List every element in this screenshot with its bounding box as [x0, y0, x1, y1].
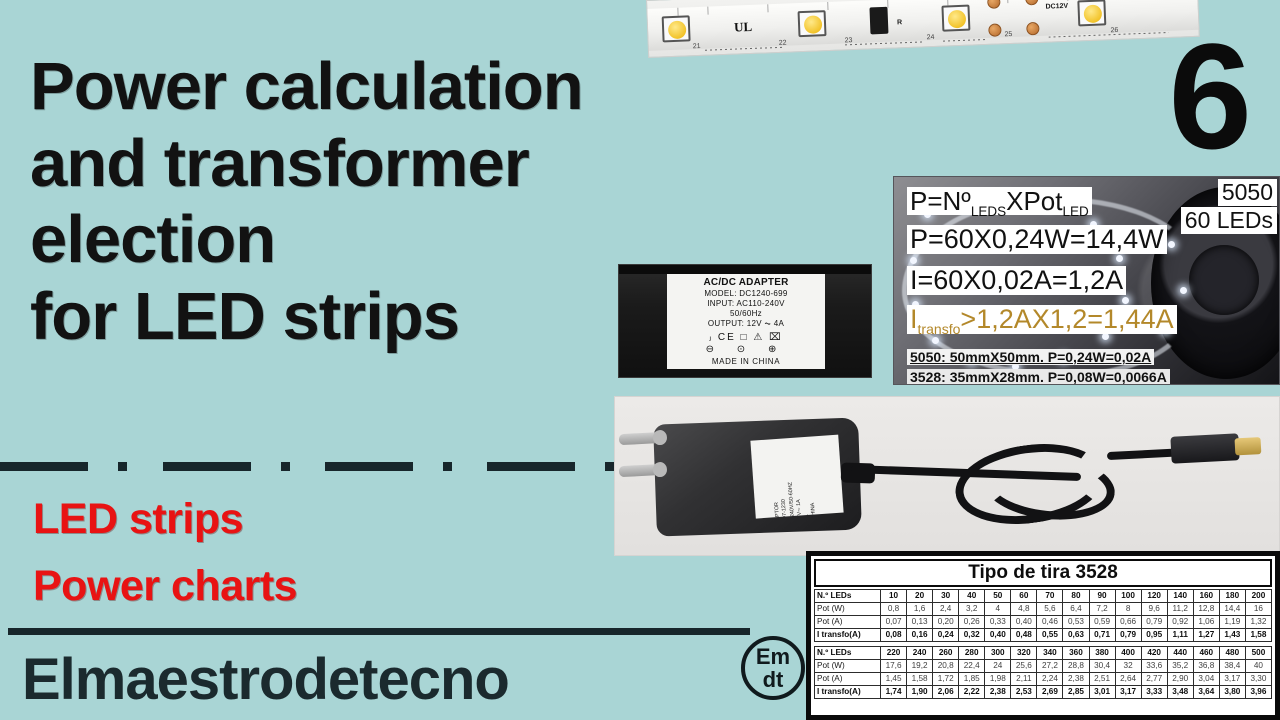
strip-index: 24	[927, 34, 935, 41]
ul-cert-icon: UL	[734, 19, 753, 36]
led-chip	[941, 5, 970, 32]
table-cell: 360	[1063, 646, 1089, 659]
table-cell: 3,64	[1193, 685, 1219, 698]
dc-barrel-jack	[1170, 433, 1239, 464]
table-cell: 440	[1167, 646, 1193, 659]
table-cell: 0,79	[1115, 628, 1141, 641]
table-cell: 1,43	[1219, 628, 1245, 641]
table-cell: 7,2	[1089, 602, 1115, 615]
table-cell: 100	[1115, 589, 1141, 602]
table-cell: 2,53	[1011, 685, 1037, 698]
table-cell: 19,2	[907, 659, 933, 672]
table-cell: 1,58	[907, 672, 933, 685]
table-cell: 480	[1219, 646, 1245, 659]
adapter-made-in: MADE IN CHINA	[669, 357, 823, 366]
table-cell: 280	[959, 646, 985, 659]
table-cell: 120	[1141, 589, 1167, 602]
adapter-brick-photo: AC/DC ADAPTER MODEL: DC1240-699 INPUT: A…	[618, 264, 872, 378]
led-chip	[662, 15, 691, 42]
psu-sticker: AC/DC ADAPTOR MODEL: KD7-1230 INPUT:100-…	[750, 435, 843, 519]
table-cell: 0,33	[985, 615, 1011, 628]
table-cell: 70	[1037, 589, 1063, 602]
table-cell: 0,46	[1037, 615, 1063, 628]
row-label: Pot (A)	[815, 672, 881, 685]
table-cell: 25,6	[1011, 659, 1037, 672]
table-cell: 0,66	[1115, 615, 1141, 628]
table-cell: 1,74	[881, 685, 907, 698]
table-cell: 2,69	[1037, 685, 1063, 698]
table-cell: 0,13	[907, 615, 933, 628]
table-cell: 0,55	[1037, 628, 1063, 641]
table-cell: 3,80	[1219, 685, 1245, 698]
chart-title: Tipo de tira 3528	[814, 559, 1272, 587]
strip-substrate	[647, 0, 1198, 51]
table-cell: 0,63	[1063, 628, 1089, 641]
subtitle-power-charts: Power charts	[33, 562, 297, 611]
table-cell: 140	[1167, 589, 1193, 602]
formula-line-4: Itransfo>1,2AX1,2=1,44A	[907, 305, 1177, 334]
table-cell: 0,20	[933, 615, 959, 628]
strip-index: 25	[1004, 31, 1012, 38]
table-cell: 35,2	[1167, 659, 1193, 672]
table-cell: 2,06	[933, 685, 959, 698]
table-cell: 2,24	[1037, 672, 1063, 685]
formula-panel: 5050 60 LEDs P=NºLEDSXPotLED P=60X0,24W=…	[893, 176, 1280, 385]
table-cell: 400	[1115, 646, 1141, 659]
table-cell: 60	[1011, 589, 1037, 602]
adapter-spec-label: AC/DC ADAPTER MODEL: DC1240-699 INPUT: A…	[667, 274, 825, 369]
note-5050: 5050: 50mmX50mm. P=0,24W=0,02A	[907, 349, 1154, 365]
led-chip	[1077, 0, 1106, 26]
table-cell: 17,6	[881, 659, 907, 672]
table-cell: 200	[1245, 589, 1271, 602]
table-cell: 12,8	[1193, 602, 1219, 615]
table-cell: 14,4	[1219, 602, 1245, 615]
table-cell: 380	[1089, 646, 1115, 659]
table-cell: 20,8	[933, 659, 959, 672]
table-cell: 0,40	[985, 628, 1011, 641]
table-cell: 240	[907, 646, 933, 659]
psu-sticker-text: AC/DC ADAPTOR MODEL: KD7-1230 INPUT:100-…	[769, 435, 820, 519]
table-cell: 2,85	[1063, 685, 1089, 698]
table-cell: 2,90	[1167, 672, 1193, 685]
table-cell: 90	[1089, 589, 1115, 602]
table-cell: 8	[1115, 602, 1141, 615]
formula-line-2: P=60X0,24W=14,4W	[907, 225, 1167, 254]
table-cell: 4,8	[1011, 602, 1037, 615]
table-cell: 40	[959, 589, 985, 602]
table-cell: 460	[1193, 646, 1219, 659]
adapter-frequency: 50/60Hz	[669, 309, 823, 318]
table-cell: 1,72	[933, 672, 959, 685]
table-row: I transfo(A)1,741,902,062,222,382,532,69…	[815, 685, 1272, 698]
row-label: I transfo(A)	[815, 628, 881, 641]
emdt-logo: Em dt	[741, 636, 805, 700]
strip-index: 21	[693, 43, 701, 50]
table-cell: 2,64	[1115, 672, 1141, 685]
table-cell: 9,6	[1141, 602, 1167, 615]
table-cell: 1,90	[907, 685, 933, 698]
table-cell: 3,33	[1141, 685, 1167, 698]
table-cell: 2,51	[1089, 672, 1115, 685]
table-cell: 2,4	[933, 602, 959, 615]
table-cell: 30	[933, 589, 959, 602]
channel-name: Elmaestrodetecno	[22, 646, 509, 713]
table-cell: 33,6	[1141, 659, 1167, 672]
table-cell: 2,11	[1011, 672, 1037, 685]
table-cell: 340	[1037, 646, 1063, 659]
table-cell: 20	[907, 589, 933, 602]
table-cell: 220	[881, 646, 907, 659]
power-chart-card: Tipo de tira 3528 N.º LEDs10203040506070…	[806, 551, 1280, 720]
power-supply-photo: AC/DC ADAPTOR MODEL: KD7-1230 INPUT:100-…	[614, 396, 1280, 556]
horizontal-rule	[8, 628, 750, 635]
table-cell: 0,32	[959, 628, 985, 641]
adapter-output: OUTPUT: 12V ⏦ 4A	[669, 319, 823, 329]
table-cell: 5,6	[1037, 602, 1063, 615]
logo-text-top: Em	[756, 646, 790, 668]
table-cell: 3,17	[1115, 685, 1141, 698]
table-cell: 10	[881, 589, 907, 602]
table-cell: 3,96	[1245, 685, 1271, 698]
adapter-input: INPUT: AC110-240V	[669, 299, 823, 308]
table-cell: 1,6	[907, 602, 933, 615]
table-cell: 0,08	[881, 628, 907, 641]
badge-led-count: 60 LEDs	[1181, 207, 1277, 234]
table-cell: 22,4	[959, 659, 985, 672]
adapter-model: MODEL: DC1240-699	[669, 289, 823, 298]
row-label: Pot (W)	[815, 602, 881, 615]
polarity-icon: ⊖ ⊙ ⊕	[669, 344, 823, 355]
table-cell: 420	[1141, 646, 1167, 659]
table-cell: 16	[1245, 602, 1271, 615]
table-cell: 6,4	[1063, 602, 1089, 615]
table-cell: 3,01	[1089, 685, 1115, 698]
table-cell: 160	[1193, 589, 1219, 602]
formula-line-3: I=60X0,02A=1,2A	[907, 266, 1126, 295]
table-cell: 180	[1219, 589, 1245, 602]
logo-text-bottom: dt	[763, 669, 784, 691]
table-cell: 260	[933, 646, 959, 659]
table-cell: 28,8	[1063, 659, 1089, 672]
badge-strip-type: 5050	[1218, 179, 1277, 206]
issue-number: 6	[1169, 35, 1252, 158]
table-cell: 0,53	[1063, 615, 1089, 628]
table-cell: 300	[985, 646, 1011, 659]
table-cell: 3,04	[1193, 672, 1219, 685]
table-cell: 0,59	[1089, 615, 1115, 628]
power-table-block-1: N.º LEDs10203040506070809010012014016018…	[814, 589, 1272, 642]
table-cell: 1,11	[1167, 628, 1193, 641]
table-row: N.º LEDs22024026028030032034036038040042…	[815, 646, 1272, 659]
plug-pin	[619, 464, 666, 477]
table-row: Pot (W)0,81,62,43,244,85,66,47,289,611,2…	[815, 602, 1272, 615]
power-table-block-2: N.º LEDs22024026028030032034036038040042…	[814, 646, 1272, 699]
plug-pin	[619, 432, 666, 445]
table-cell: 2,22	[959, 685, 985, 698]
table-cell: 38,4	[1219, 659, 1245, 672]
table-cell: 24	[985, 659, 1011, 672]
voltage-mark: DC12V	[1045, 3, 1068, 11]
table-cell: 0,8	[881, 602, 907, 615]
table-cell: 2,38	[1063, 672, 1089, 685]
table-cell: 11,2	[1167, 602, 1193, 615]
table-row: Pot (A)0,070,130,200,260,330,400,460,530…	[815, 615, 1272, 628]
table-cell: 2,77	[1141, 672, 1167, 685]
table-row: N.º LEDs10203040506070809010012014016018…	[815, 589, 1272, 602]
row-label: N.º LEDs	[815, 589, 881, 602]
table-cell: 0,48	[1011, 628, 1037, 641]
table-cell: 0,16	[907, 628, 933, 641]
table-cell: 80	[1063, 589, 1089, 602]
certification-icons: ⱼ CE □ ⚠ ⌧	[669, 332, 823, 343]
table-cell: 320	[1011, 646, 1037, 659]
subtitle-led-strips: LED strips	[33, 495, 243, 544]
resistor	[869, 7, 888, 35]
table-cell: 27,2	[1037, 659, 1063, 672]
table-cell: 3,30	[1245, 672, 1271, 685]
formula-line-1: P=NºLEDSXPotLED	[907, 187, 1092, 215]
table-cell: 0,26	[959, 615, 985, 628]
table-cell: 1,19	[1219, 615, 1245, 628]
resistor-mark: R	[897, 19, 902, 26]
table-cell: 3,48	[1167, 685, 1193, 698]
psu-body: AC/DC ADAPTOR MODEL: KD7-1230 INPUT:100-…	[653, 417, 862, 536]
table-row: Pot (A)1,451,581,721,851,982,112,242,382…	[815, 672, 1272, 685]
table-cell: 0,79	[1141, 615, 1167, 628]
table-cell: 0,95	[1141, 628, 1167, 641]
row-label: Pot (W)	[815, 659, 881, 672]
table-cell: 500	[1245, 646, 1271, 659]
table-cell: 0,40	[1011, 615, 1037, 628]
table-cell: 1,06	[1193, 615, 1219, 628]
table-row: Pot (W)17,619,220,822,42425,627,228,830,…	[815, 659, 1272, 672]
table-cell: 1,98	[985, 672, 1011, 685]
table-cell: 32	[1115, 659, 1141, 672]
row-label: I transfo(A)	[815, 685, 881, 698]
table-cell: 30,4	[1089, 659, 1115, 672]
led-strip-photo: UL DC12V R 21 22 23 24 25 26	[646, 0, 1200, 58]
table-cell: 4	[985, 602, 1011, 615]
table-cell: 1,85	[959, 672, 985, 685]
note-3528: 3528: 35mmX28mm. P=0,08W=0,0066A	[907, 369, 1170, 385]
table-cell: 50	[985, 589, 1011, 602]
table-row: I transfo(A)0,080,160,240,320,400,480,55…	[815, 628, 1272, 641]
table-cell: 0,92	[1167, 615, 1193, 628]
adapter-title: AC/DC ADAPTER	[669, 277, 823, 288]
table-cell: 0,07	[881, 615, 907, 628]
led-chip	[798, 10, 827, 37]
table-cell: 1,58	[1245, 628, 1271, 641]
row-label: N.º LEDs	[815, 646, 881, 659]
table-cell: 0,71	[1089, 628, 1115, 641]
table-cell: 1,27	[1193, 628, 1219, 641]
title-line-2: and transformer	[30, 129, 830, 199]
table-cell: 36,8	[1193, 659, 1219, 672]
row-label: Pot (A)	[815, 615, 881, 628]
table-cell: 0,24	[933, 628, 959, 641]
table-cell: 40	[1245, 659, 1271, 672]
table-cell: 3,17	[1219, 672, 1245, 685]
dash-dot-divider	[0, 462, 640, 471]
title-line-1: Power calculation	[30, 52, 830, 122]
table-cell: 3,2	[959, 602, 985, 615]
table-cell: 1,32	[1245, 615, 1271, 628]
table-cell: 2,38	[985, 685, 1011, 698]
table-cell: 1,45	[881, 672, 907, 685]
